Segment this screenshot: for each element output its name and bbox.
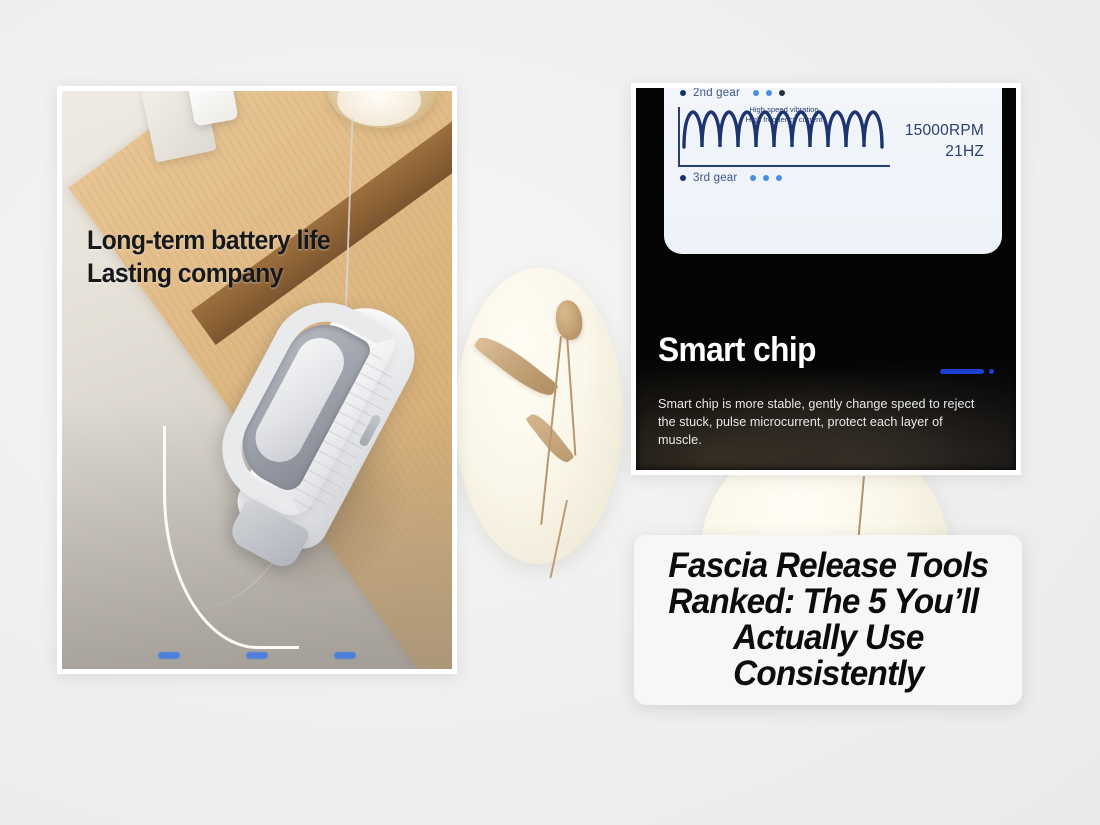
left-photo-headline: Long-term battery life Lasting company — [87, 224, 330, 290]
level-dot-on — [753, 90, 759, 96]
left-product-photo: Long-term battery life Lasting company — [62, 91, 452, 669]
gear-row-high: 3rd gear — [678, 172, 988, 184]
article-title-line: Ranked: The 5 You’ll — [668, 584, 988, 620]
level-dot-on — [766, 90, 772, 96]
spec-block-medium: Medium speed vibration Medium frequency … — [678, 88, 988, 99]
smart-chip-description: Smart chip is more stable, gently change… — [658, 396, 982, 450]
screenshot-canvas: Long-term battery life Lasting company M… — [0, 0, 1100, 825]
article-title-line: Actually Use — [668, 620, 988, 656]
gear-bullet-icon — [680, 90, 686, 96]
accent-bar-icon — [940, 369, 984, 374]
gear-bullet-icon — [680, 175, 686, 181]
right-dark-photo-card: Medium speed vibration Medium frequency … — [631, 83, 1021, 475]
article-title-card: Fascia Release Tools Ranked: The 5 You’l… — [634, 535, 1022, 705]
accent-marker — [940, 369, 994, 374]
smart-chip-photo: Medium speed vibration Medium frequency … — [636, 88, 1016, 470]
article-title-text: Fascia Release Tools Ranked: The 5 You’l… — [662, 548, 993, 692]
spec-hz-high: 21HZ — [890, 142, 984, 163]
article-title-line: Consistently — [668, 656, 988, 692]
waveform-y-axis — [678, 107, 680, 165]
photo-pagination-dots — [62, 652, 452, 659]
level-dot-off — [779, 90, 785, 96]
spec-rpm-high: 15000RPM — [890, 121, 984, 142]
article-title-line: Fascia Release Tools — [668, 548, 988, 584]
gear-row-medium: 2nd gear — [678, 88, 988, 99]
waveform-x-axis — [678, 165, 890, 167]
level-dot-on — [763, 175, 769, 181]
spec-block-high: High speed vibration High frequency curr… — [678, 105, 988, 184]
waveform-high: High speed vibration High frequency curr… — [678, 105, 890, 167]
pagination-dot[interactable] — [334, 652, 356, 659]
level-dot-on — [776, 175, 782, 181]
left-product-photo-card: Long-term battery life Lasting company — [57, 86, 457, 674]
spec-values-high: 15000RPM 21HZ — [890, 121, 988, 167]
pagination-dot[interactable] — [158, 652, 180, 659]
vibration-spec-panel: Medium speed vibration Medium frequency … — [664, 88, 1002, 254]
waveform-high-svg — [682, 109, 888, 149]
gear-label-medium: 2nd gear — [693, 88, 740, 99]
level-dot-on — [750, 175, 756, 181]
smart-chip-title: Smart chip — [658, 331, 816, 370]
pagination-dot[interactable] — [246, 652, 268, 659]
accent-dot-icon — [989, 369, 994, 374]
gear-label-high: 3rd gear — [693, 172, 737, 184]
